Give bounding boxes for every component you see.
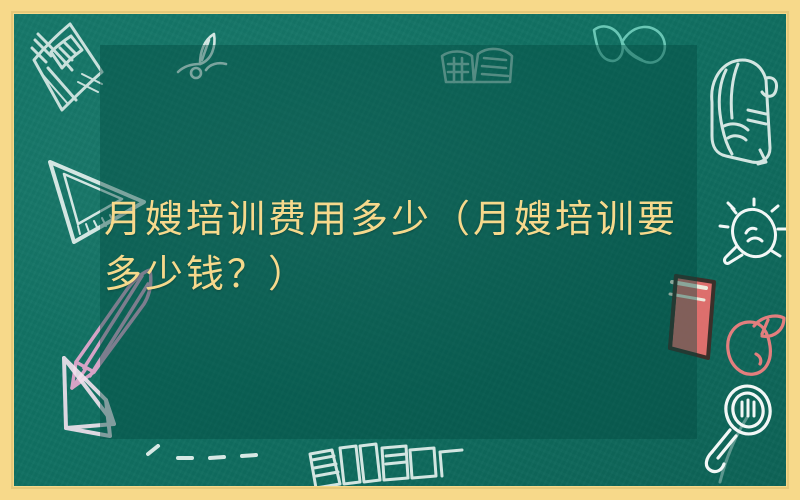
ribbon-bow-doodle [592,20,706,82]
sprout-leaf-doodle [176,30,230,78]
fence-books-doodle [302,444,474,486]
paper-airplane-doodle [48,344,168,464]
backpack-doodle [704,54,784,174]
open-books-doodle [18,18,138,138]
chalkboard-banner: 月嫂培训费用多少（月嫂培训要多少钱？） [0,0,800,500]
apple-doodle [714,310,786,382]
chalk-stroke-doodle [714,414,754,484]
magnifier-doodle [698,382,784,478]
dashes-doodle [144,438,304,468]
stacked-books-doodle [434,28,554,82]
page-title: 月嫂培训费用多少（月嫂培训要多少钱？） [104,192,684,302]
lightbulb-doodle [714,199,786,279]
